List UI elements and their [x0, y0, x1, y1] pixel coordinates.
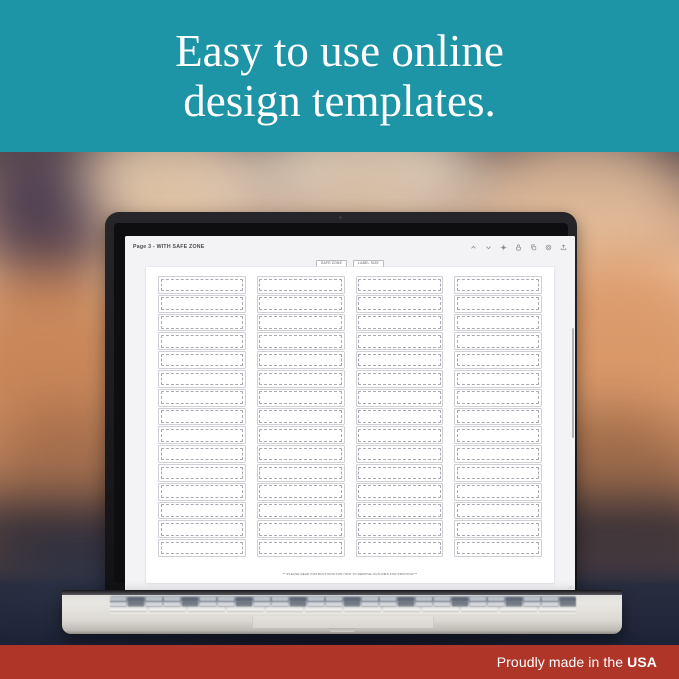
keyboard-key	[110, 607, 147, 611]
keyboard-key	[149, 607, 186, 611]
label-cell[interactable]	[454, 276, 542, 294]
keyboard-key	[200, 597, 216, 601]
label-cell[interactable]	[158, 276, 246, 294]
label-cell[interactable]	[158, 408, 246, 426]
label-cell[interactable]	[257, 314, 345, 332]
label-cell[interactable]	[257, 445, 345, 463]
label-safe-zone	[457, 297, 540, 310]
keyboard-key	[272, 602, 288, 606]
laptop-hinge	[62, 590, 622, 595]
keyboard-row	[110, 602, 576, 606]
keyboard-key	[506, 602, 522, 606]
keyboard-key	[182, 602, 198, 606]
label-cell[interactable]	[158, 502, 246, 520]
label-safe-zone	[259, 485, 342, 498]
label-safe-zone	[161, 316, 244, 329]
label-cell[interactable]	[257, 332, 345, 350]
label-cell[interactable]	[356, 445, 444, 463]
label-cell[interactable]	[356, 314, 444, 332]
keyboard-key	[188, 607, 225, 611]
keyboard-key	[344, 602, 360, 606]
label-safe-zone	[161, 410, 244, 423]
keyboard-key	[200, 602, 216, 606]
export-icon[interactable]	[560, 244, 567, 251]
headline-line-2: design templates.	[183, 76, 495, 126]
target-icon[interactable]	[500, 244, 507, 251]
label-safe-zone	[358, 279, 441, 292]
label-safe-zone	[358, 335, 441, 348]
keyboard-row	[110, 597, 576, 601]
label-cell[interactable]	[257, 502, 345, 520]
label-cell[interactable]	[356, 295, 444, 313]
label-safe-zone	[161, 373, 244, 386]
label-safe-zone	[457, 467, 540, 480]
label-cell[interactable]	[356, 426, 444, 444]
label-cell[interactable]	[356, 502, 444, 520]
keyboard-key	[524, 597, 540, 601]
label-safe-zone	[161, 335, 244, 348]
label-safe-zone	[259, 373, 342, 386]
laptop-base	[62, 590, 622, 634]
label-cell[interactable]	[158, 426, 246, 444]
label-cell[interactable]	[257, 276, 345, 294]
laptop: Page 3 - WITH SAFE ZONE	[0, 150, 679, 645]
label-cell[interactable]	[257, 370, 345, 388]
keyboard-key	[470, 602, 486, 606]
label-cell[interactable]	[257, 389, 345, 407]
label-safe-zone	[358, 391, 441, 404]
made-in-usa-prefix: Proudly made in the	[497, 654, 627, 670]
laptop-screen: Page 3 - WITH SAFE ZONE	[125, 236, 575, 592]
keyboard-key	[218, 597, 234, 601]
label-cell[interactable]	[158, 351, 246, 369]
label-safe-zone	[358, 373, 441, 386]
label-cell[interactable]	[356, 464, 444, 482]
keyboard-key	[422, 607, 459, 611]
label-cell[interactable]	[158, 464, 246, 482]
label-safe-zone	[358, 410, 441, 423]
laptop-bezel: Page 3 - WITH SAFE ZONE	[114, 223, 568, 583]
keyboard-key	[416, 597, 432, 601]
label-safe-zone	[457, 485, 540, 498]
label-cell[interactable]	[158, 332, 246, 350]
label-cell[interactable]	[356, 539, 444, 557]
keyboard-key	[236, 597, 252, 601]
label-cell[interactable]	[454, 332, 542, 350]
keyboard-key	[398, 597, 414, 601]
label-safe-zone	[358, 485, 441, 498]
keyboard-key	[110, 597, 126, 601]
label-safe-zone	[161, 467, 244, 480]
product-banner-image: Page 3 - WITH SAFE ZONE	[0, 0, 679, 679]
label-safe-zone	[457, 448, 540, 461]
label-cell[interactable]	[454, 502, 542, 520]
keyboard-key	[488, 597, 504, 601]
label-safe-zone	[358, 297, 441, 310]
label-safe-zone	[161, 354, 244, 367]
label-safe-zone	[259, 316, 342, 329]
keyboard-key	[539, 607, 576, 611]
label-safe-zone	[161, 279, 244, 292]
keyboard-key	[146, 597, 162, 601]
keyboard-key	[254, 602, 270, 606]
laptop-lid: Page 3 - WITH SAFE ZONE	[105, 212, 577, 594]
chevron-up-icon[interactable]	[470, 244, 477, 251]
keyboard-key	[110, 602, 126, 606]
label-cell[interactable]	[257, 520, 345, 538]
label-cell[interactable]	[454, 295, 542, 313]
keyboard-key	[326, 602, 342, 606]
keyboard-key	[272, 597, 288, 601]
made-in-usa-bold: USA	[627, 654, 657, 670]
keyboard-key	[500, 607, 537, 611]
lock-icon[interactable]	[515, 244, 522, 251]
keyboard-key	[236, 602, 252, 606]
label-safe-zone	[161, 504, 244, 517]
keyboard-key	[305, 607, 342, 611]
label-safe-zone	[259, 429, 342, 442]
label-cell[interactable]	[257, 464, 345, 482]
label-safe-zone	[259, 410, 342, 423]
keyboard-key	[266, 607, 303, 611]
design-template-app: Page 3 - WITH SAFE ZONE	[125, 236, 575, 592]
label-safe-zone	[457, 542, 540, 555]
label-safe-zone	[358, 504, 441, 517]
label-cell[interactable]	[257, 426, 345, 444]
label-cell[interactable]	[454, 445, 542, 463]
label-safe-zone	[358, 523, 441, 536]
label-cell[interactable]	[158, 314, 246, 332]
label-cell[interactable]	[257, 483, 345, 501]
keyboard-key	[452, 597, 468, 601]
keyboard-key	[452, 602, 468, 606]
headline-line-1: Easy to use online	[175, 26, 504, 76]
label-safe-zone	[161, 485, 244, 498]
label-safe-zone	[259, 467, 342, 480]
label-safe-zone	[259, 448, 342, 461]
keyboard-key	[128, 602, 144, 606]
keyboard-key	[344, 597, 360, 601]
keyboard-key	[254, 597, 270, 601]
label-cell[interactable]	[257, 295, 345, 313]
chevron-down-icon[interactable]	[485, 244, 492, 251]
label-cell[interactable]	[356, 276, 444, 294]
keyboard-key	[128, 597, 144, 601]
label-safe-zone	[457, 429, 540, 442]
keyboard-key	[416, 602, 432, 606]
label-safe-zone	[161, 429, 244, 442]
keyboard-key	[434, 602, 450, 606]
keyboard-key	[227, 607, 264, 611]
label-cell[interactable]	[158, 483, 246, 501]
label-cell[interactable]	[356, 483, 444, 501]
label-cell[interactable]	[356, 370, 444, 388]
laptop-front-notch	[328, 628, 356, 632]
label-sheet[interactable]: ***PLEASE READ INSTRUCTIONS FOR HOW TO R…	[146, 267, 554, 583]
label-safe-zone	[259, 335, 342, 348]
keyboard-key	[461, 607, 498, 611]
keyboard-key	[362, 602, 378, 606]
keyboard-key	[308, 602, 324, 606]
keyboard-key	[488, 602, 504, 606]
label-safe-zone	[358, 448, 441, 461]
label-safe-zone	[259, 523, 342, 536]
keyboard-key	[380, 597, 396, 601]
keyboard-key	[164, 597, 180, 601]
made-in-usa-text: Proudly made in the USA	[497, 654, 657, 670]
label-safe-zone	[259, 354, 342, 367]
keyboard-key	[290, 597, 306, 601]
label-safe-zone	[161, 448, 244, 461]
label-cell[interactable]	[158, 445, 246, 463]
keyboard-key	[434, 597, 450, 601]
copy-icon[interactable]	[530, 244, 537, 251]
keyboard-key	[344, 607, 381, 611]
label-cell[interactable]	[454, 408, 542, 426]
toolbar-icon-group	[470, 244, 567, 251]
top-banner: Easy to use online design templates.	[0, 0, 679, 152]
keyboard-key	[383, 607, 420, 611]
keyboard-key	[524, 602, 540, 606]
label-safe-zone	[358, 542, 441, 555]
keyboard-key	[560, 597, 576, 601]
webcam-icon	[339, 216, 342, 219]
settings-gear-icon[interactable]	[545, 244, 552, 251]
label-safe-zone	[161, 542, 244, 555]
label-cell[interactable]	[158, 295, 246, 313]
keyboard-key	[380, 602, 396, 606]
document-title: Page 3 - WITH SAFE ZONE	[133, 244, 204, 250]
label-safe-zone	[457, 373, 540, 386]
keyboard-key	[218, 602, 234, 606]
label-cell[interactable]	[356, 351, 444, 369]
keyboard-row	[110, 607, 576, 611]
keyboard-key	[506, 597, 522, 601]
label-grid	[158, 276, 542, 557]
label-safe-zone	[358, 467, 441, 480]
laptop-trackpad	[252, 616, 434, 628]
label-cell[interactable]	[454, 389, 542, 407]
laptop-keyboard	[110, 596, 576, 614]
label-cell[interactable]	[454, 314, 542, 332]
label-safe-zone	[161, 297, 244, 310]
keyboard-key	[560, 602, 576, 606]
label-safe-zone	[259, 542, 342, 555]
label-cell[interactable]	[158, 539, 246, 557]
label-cell[interactable]	[158, 520, 246, 538]
label-safe-zone	[457, 391, 540, 404]
label-safe-zone	[457, 410, 540, 423]
label-safe-zone	[259, 297, 342, 310]
label-safe-zone	[259, 391, 342, 404]
label-cell[interactable]	[356, 408, 444, 426]
app-toolbar: Page 3 - WITH SAFE ZONE	[125, 236, 575, 258]
vertical-scrollbar[interactable]	[572, 328, 574, 438]
keyboard-key	[398, 602, 414, 606]
keyboard-key	[542, 597, 558, 601]
keyboard-key	[164, 602, 180, 606]
label-cell[interactable]	[257, 408, 345, 426]
label-cell[interactable]	[257, 539, 345, 557]
label-safe-zone	[457, 335, 540, 348]
keyboard-key	[470, 597, 486, 601]
label-safe-zone	[358, 354, 441, 367]
keyboard-key	[308, 597, 324, 601]
keyboard-key	[542, 602, 558, 606]
keyboard-key	[182, 597, 198, 601]
label-cell[interactable]	[454, 464, 542, 482]
keyboard-key	[290, 602, 306, 606]
keyboard-key	[362, 597, 378, 601]
label-cell[interactable]	[454, 351, 542, 369]
resize-grip-icon[interactable]	[567, 584, 572, 589]
label-cell[interactable]	[454, 483, 542, 501]
label-safe-zone	[161, 523, 244, 536]
label-cell[interactable]	[257, 351, 345, 369]
label-cell[interactable]	[356, 520, 444, 538]
label-cell[interactable]	[454, 426, 542, 444]
label-cell[interactable]	[454, 520, 542, 538]
label-safe-zone	[259, 279, 342, 292]
sheet-footer-note: ***PLEASE READ INSTRUCTIONS FOR HOW TO R…	[146, 572, 554, 576]
label-safe-zone	[161, 391, 244, 404]
label-safe-zone	[358, 316, 441, 329]
label-safe-zone	[457, 279, 540, 292]
label-safe-zone	[457, 504, 540, 517]
label-cell[interactable]	[356, 332, 444, 350]
label-cell[interactable]	[454, 370, 542, 388]
label-safe-zone	[457, 523, 540, 536]
document-scroll-area[interactable]: SAFE ZONE LABEL SIZE ***PLEASE READ INST…	[125, 258, 575, 592]
label-safe-zone	[457, 316, 540, 329]
keyboard-key	[326, 597, 342, 601]
label-cell[interactable]	[158, 370, 246, 388]
label-safe-zone	[457, 354, 540, 367]
label-cell[interactable]	[454, 539, 542, 557]
label-cell[interactable]	[356, 389, 444, 407]
bottom-banner: Proudly made in the USA	[0, 645, 679, 679]
label-safe-zone	[259, 504, 342, 517]
label-safe-zone	[358, 429, 441, 442]
keyboard-key	[146, 602, 162, 606]
label-cell[interactable]	[158, 389, 246, 407]
